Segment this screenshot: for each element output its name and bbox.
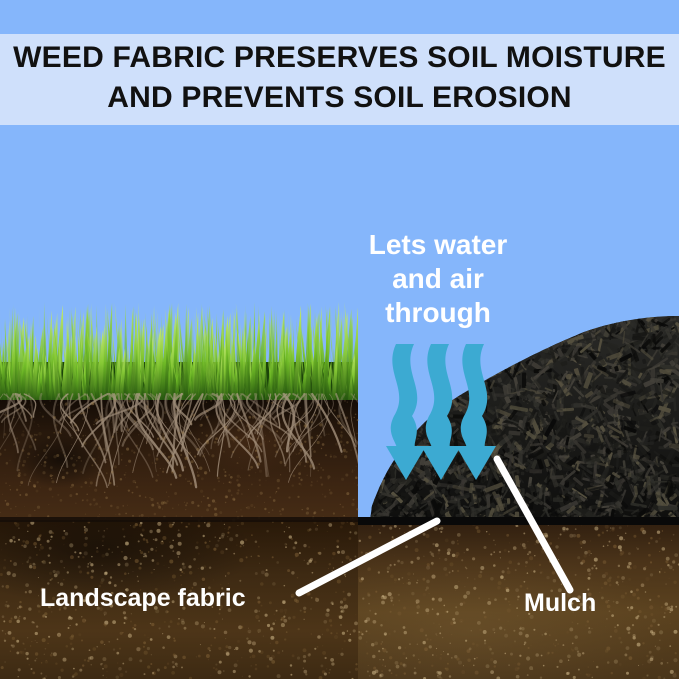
banner-top-strip: [0, 0, 679, 34]
landscape-fabric-left: [0, 517, 358, 522]
infographic-scene: WEED FABRIC PRESERVES SOIL MOISTURE AND …: [0, 0, 679, 679]
label-mulch: Mulch: [524, 589, 596, 618]
water-flow-arrows-icon: [385, 340, 500, 485]
turf-block: [0, 296, 358, 536]
root-system: [0, 392, 358, 512]
landscape-fabric-band: [358, 517, 679, 525]
page-title: WEED FABRIC PRESERVES SOIL MOISTURE AND …: [0, 38, 679, 118]
label-landscape-fabric: Landscape fabric: [40, 584, 246, 613]
water-air-callout: Lets water and air through: [338, 228, 538, 330]
